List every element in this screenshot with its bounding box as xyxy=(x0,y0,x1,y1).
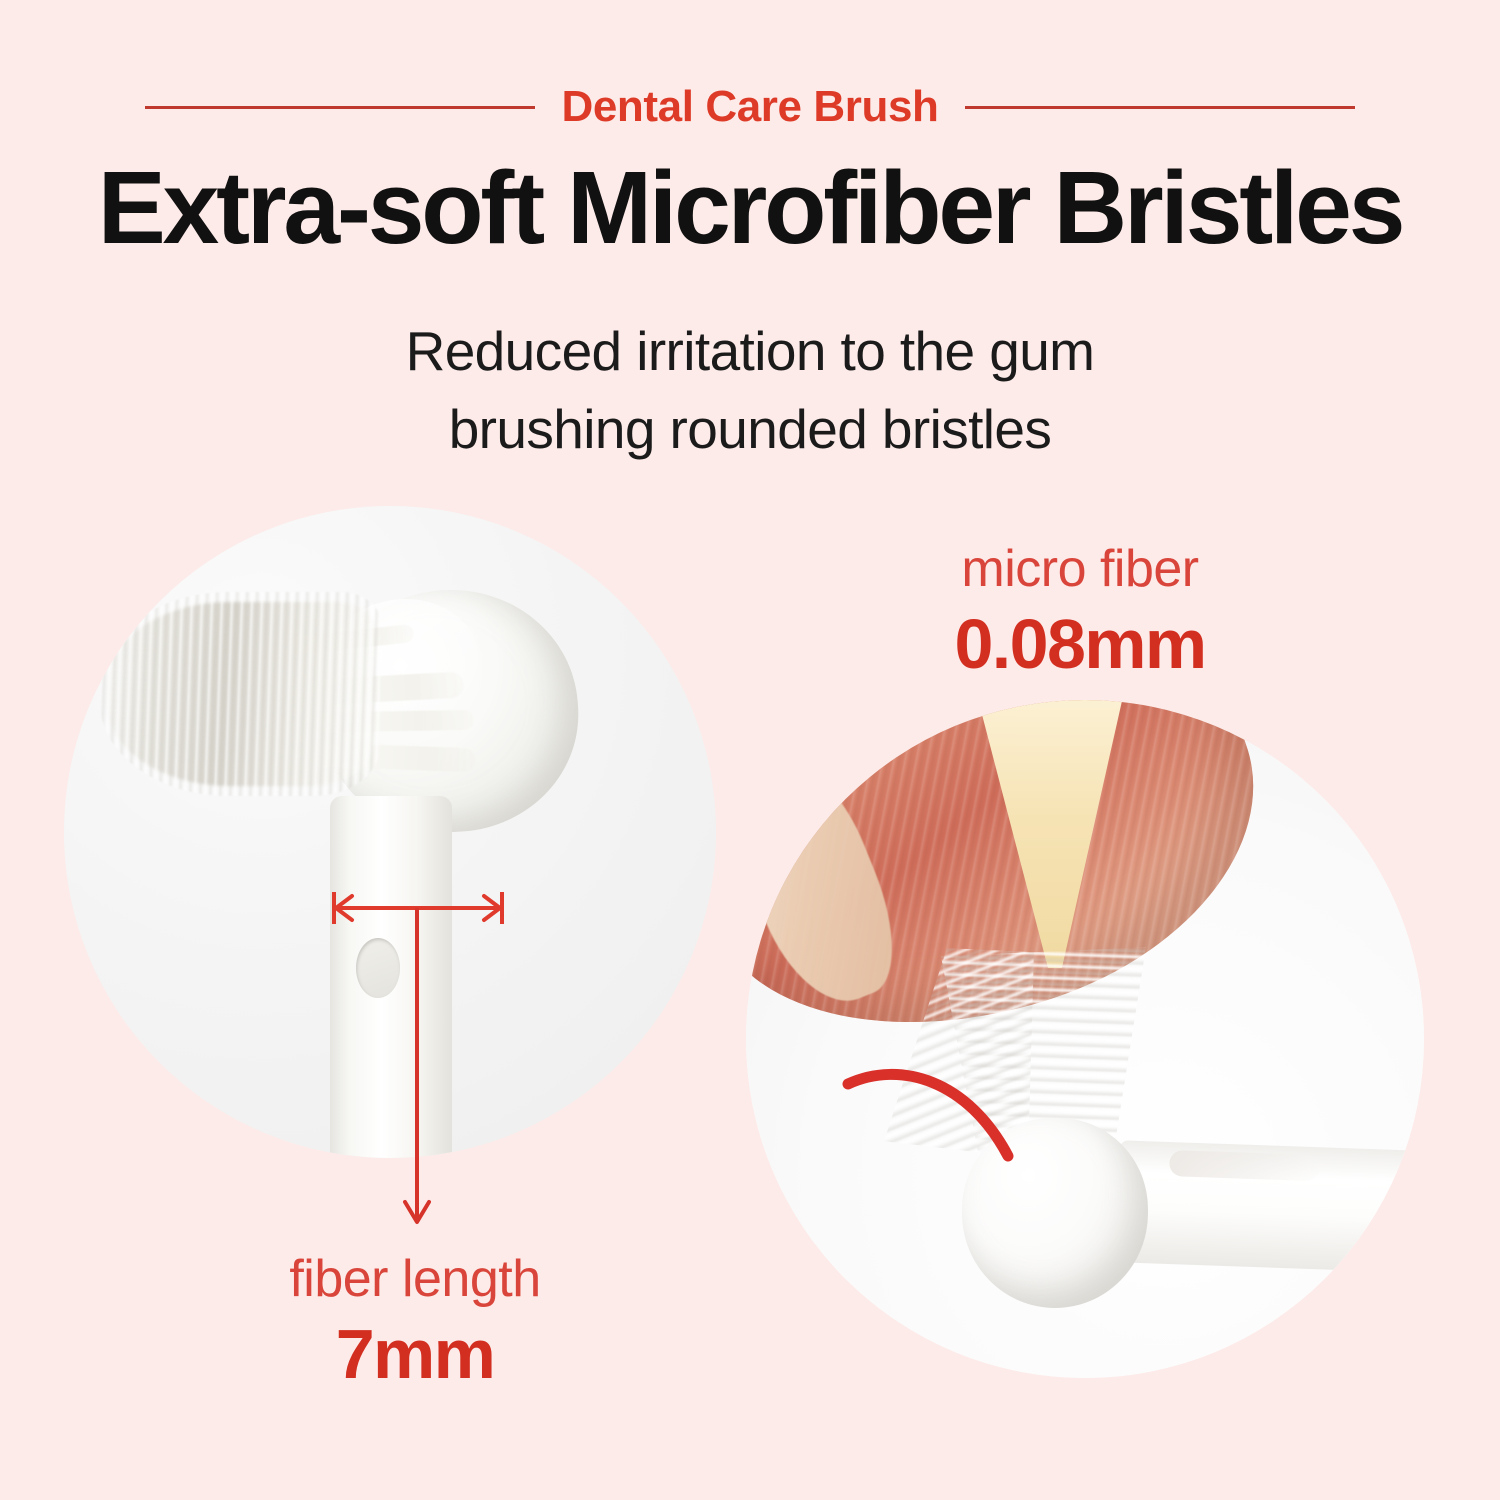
fiber-length-callout: fiber length 7mm xyxy=(180,1252,650,1391)
page-title: Extra-soft Microfiber Bristles xyxy=(8,152,1493,263)
page-subtitle: Reduced irritation to the gum brushing r… xyxy=(0,312,1500,468)
brush-ball-joint xyxy=(962,1118,1148,1308)
brush-neck xyxy=(330,796,452,1158)
bristle-tuft-left xyxy=(106,602,374,786)
arrowhead-down xyxy=(405,1202,429,1222)
infographic-page: Dental Care Brush Extra-soft Microfiber … xyxy=(0,0,1500,1500)
micro-fiber-value: 0.08mm xyxy=(870,607,1290,681)
micro-fiber-callout: micro fiber 0.08mm xyxy=(870,542,1290,681)
brush-handle-right xyxy=(1116,1140,1424,1273)
eyebrow-label: Dental Care Brush xyxy=(561,85,938,129)
divider-line-left xyxy=(145,106,535,109)
fiber-length-value: 7mm xyxy=(180,1317,650,1391)
subtitle-line-1: Reduced irritation to the gum xyxy=(0,312,1500,390)
eyebrow-row: Dental Care Brush xyxy=(0,78,1500,136)
fiber-length-label: fiber length xyxy=(180,1252,650,1307)
subtitle-line-2: brushing rounded bristles xyxy=(0,390,1500,468)
fingertip-brush-photo xyxy=(746,700,1424,1378)
bristle-tuft-strands xyxy=(100,592,380,796)
divider-line-right xyxy=(965,106,1355,109)
micro-fiber-label: micro fiber xyxy=(870,542,1290,597)
brush-head-photo xyxy=(64,506,716,1158)
